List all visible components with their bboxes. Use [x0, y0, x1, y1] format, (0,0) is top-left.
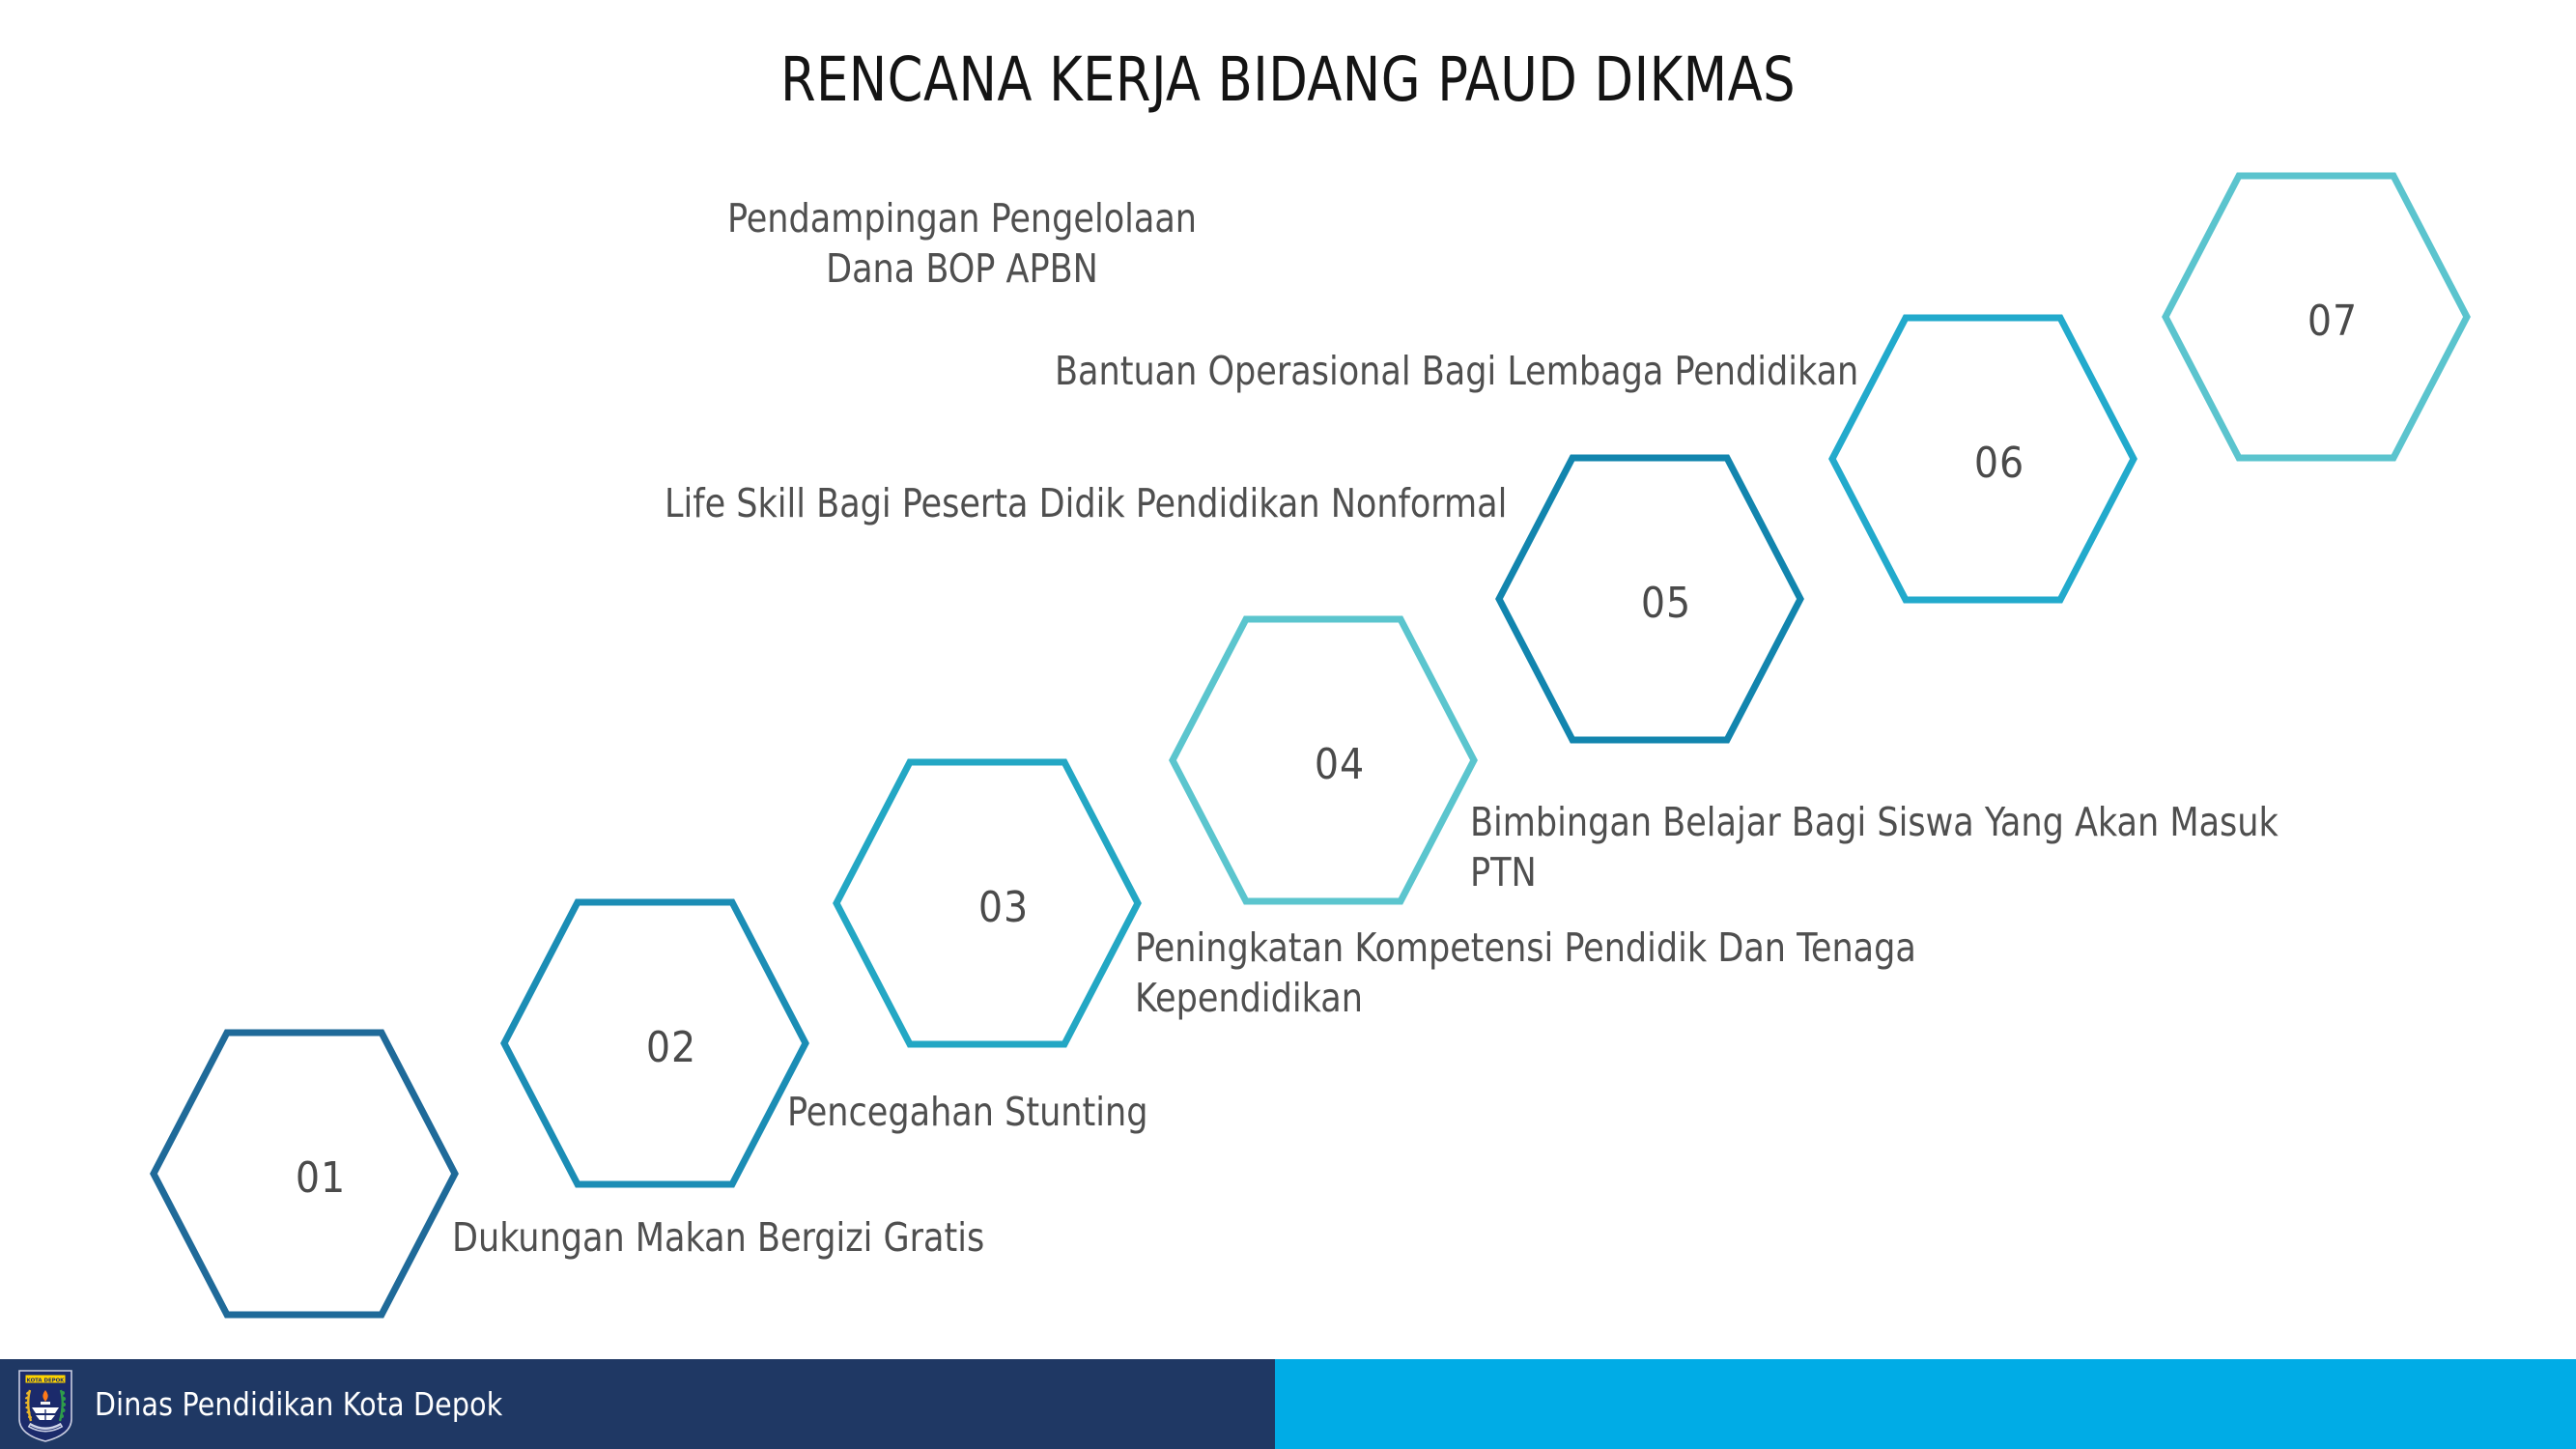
hexagon-number-03: 03	[833, 758, 1142, 1048]
hexagon-step-02[interactable]: 02	[500, 898, 809, 1188]
footer-left-bar: KOTA DEPOK	[0, 1359, 1275, 1449]
hexagon-number-01: 01	[150, 1029, 459, 1319]
footer-organization-label: Dinas Pendidikan Kota Depok	[95, 1385, 502, 1423]
caption-step-03: Peningkatan Kompetensi Pendidik Dan Tena…	[1135, 923, 1916, 1023]
slide-canvas: RENCANA KERJA BIDANG PAUD DIKMAS 01 Duku…	[0, 0, 2576, 1449]
caption-step-01: Dukungan Makan Bergizi Gratis	[452, 1212, 984, 1263]
hexagon-number-06: 06	[1828, 314, 2137, 604]
hexagon-number-05: 05	[1495, 454, 1804, 744]
hexagon-step-07[interactable]: 07	[2162, 172, 2471, 462]
caption-step-02: Pencegahan Stunting	[787, 1087, 1147, 1137]
caption-step-05: Life Skill Bagi Peserta Didik Pendidikan…	[665, 478, 1507, 528]
hexagon-number-07: 07	[2162, 172, 2471, 462]
hexagon-number-02: 02	[500, 898, 809, 1188]
hexagon-step-04[interactable]: 04	[1169, 615, 1478, 905]
caption-step-04: Bimbingan Belajar Bagi Siswa Yang Akan M…	[1470, 797, 2279, 897]
hexagon-step-01[interactable]: 01	[150, 1029, 459, 1319]
emblem-banner-text: KOTA DEPOK	[27, 1378, 66, 1383]
caption-step-07: Pendampingan Pengelolaan Dana BOP APBN	[723, 193, 1201, 294]
caption-step-06: Bantuan Operasional Bagi Lembaga Pendidi…	[1055, 346, 1858, 396]
hexagon-number-04: 04	[1169, 615, 1478, 905]
page-title: RENCANA KERJA BIDANG PAUD DIKMAS	[90, 44, 2485, 115]
footer-right-bar	[1275, 1359, 2576, 1449]
slide-footer: KOTA DEPOK	[0, 1359, 2576, 1449]
hexagon-step-05[interactable]: 05	[1495, 454, 1804, 744]
hexagon-step-06[interactable]: 06	[1828, 314, 2137, 604]
kota-depok-emblem-icon: KOTA DEPOK	[17, 1367, 73, 1442]
hexagon-step-03[interactable]: 03	[833, 758, 1142, 1048]
